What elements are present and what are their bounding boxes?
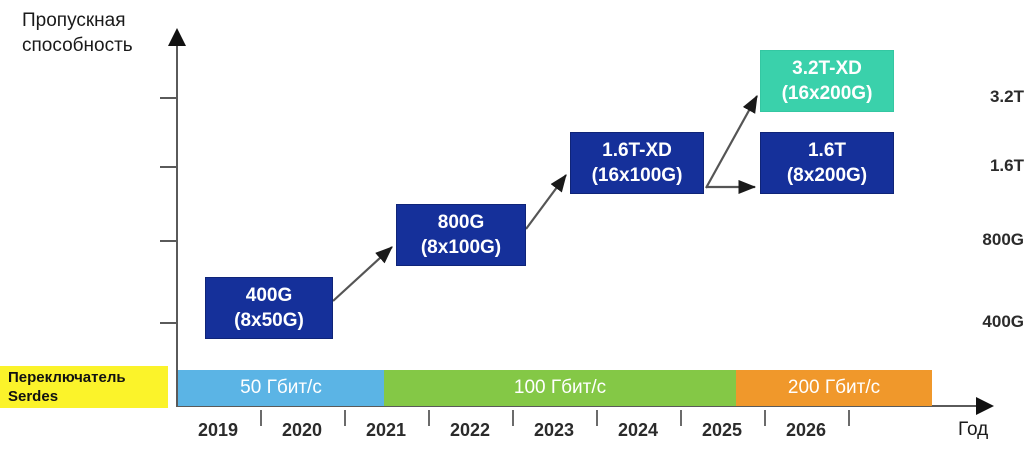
x-tick-label-2020: 2020 bbox=[262, 420, 342, 441]
serdes-legend-line2: Serdes bbox=[8, 387, 168, 406]
node-3-2t-xd-sub: (16x200G) bbox=[782, 81, 873, 106]
node-1-6t-xd[interactable]: 1.6T-XD (16x100G) bbox=[570, 132, 704, 194]
node-800g-title: 800G bbox=[438, 210, 484, 235]
serdes-segment-50g[interactable]: 50 Гбит/с bbox=[178, 370, 384, 406]
y-tick-mark-2 bbox=[160, 166, 177, 168]
node-800g[interactable]: 800G (8x100G) bbox=[396, 204, 526, 266]
y-tick-label-3: 3.2T bbox=[938, 87, 1024, 107]
node-400g-title: 400G bbox=[246, 283, 292, 308]
node-1-6t-sub: (8x200G) bbox=[787, 163, 867, 188]
x-tick-mark-7 bbox=[848, 410, 850, 426]
node-1-6t-title: 1.6T bbox=[808, 138, 846, 163]
arrow-400g-to-800g bbox=[333, 247, 392, 301]
x-tick-label-2021: 2021 bbox=[346, 420, 426, 441]
arrow-1-6t-xd-to-3-2t-xd bbox=[706, 96, 757, 188]
x-tick-label-2026: 2026 bbox=[766, 420, 846, 441]
y-axis-title: Пропускная способность bbox=[22, 8, 133, 58]
node-3-2t-xd-title: 3.2T-XD bbox=[792, 56, 862, 81]
x-axis-title: Год bbox=[958, 419, 988, 441]
node-1-6t-xd-sub: (16x100G) bbox=[592, 163, 683, 188]
x-tick-label-2024: 2024 bbox=[598, 420, 678, 441]
node-400g[interactable]: 400G (8x50G) bbox=[205, 277, 333, 339]
serdes-legend-box: Переключатель Serdes bbox=[0, 366, 168, 408]
bandwidth-roadmap-diagram: Пропускная способность 3.2T 1.6T 800G 40… bbox=[0, 0, 1024, 449]
serdes-legend-line1: Переключатель bbox=[8, 368, 168, 387]
serdes-segment-100g[interactable]: 100 Гбит/с bbox=[384, 370, 736, 406]
x-tick-label-2022: 2022 bbox=[430, 420, 510, 441]
y-tick-label-1: 800G bbox=[938, 230, 1024, 250]
x-tick-label-2019: 2019 bbox=[178, 420, 258, 441]
x-tick-label-2023: 2023 bbox=[514, 420, 594, 441]
node-800g-sub: (8x100G) bbox=[421, 235, 501, 260]
x-axis-arrowhead bbox=[976, 397, 994, 415]
node-3-2t-xd[interactable]: 3.2T-XD (16x200G) bbox=[760, 50, 894, 112]
y-tick-label-0: 400G bbox=[938, 312, 1024, 332]
y-axis-arrowhead bbox=[168, 28, 186, 46]
y-tick-mark-3 bbox=[160, 97, 177, 99]
node-1-6t-xd-title: 1.6T-XD bbox=[602, 138, 672, 163]
node-400g-sub: (8x50G) bbox=[234, 308, 304, 333]
y-tick-label-2: 1.6T bbox=[938, 156, 1024, 176]
x-tick-label-2025: 2025 bbox=[682, 420, 762, 441]
y-tick-mark-1 bbox=[160, 240, 177, 242]
node-1-6t[interactable]: 1.6T (8x200G) bbox=[760, 132, 894, 194]
y-tick-mark-0 bbox=[160, 322, 177, 324]
arrow-800g-to-1-6t-xd bbox=[526, 175, 566, 229]
serdes-segment-200g[interactable]: 200 Гбит/с bbox=[736, 370, 932, 406]
